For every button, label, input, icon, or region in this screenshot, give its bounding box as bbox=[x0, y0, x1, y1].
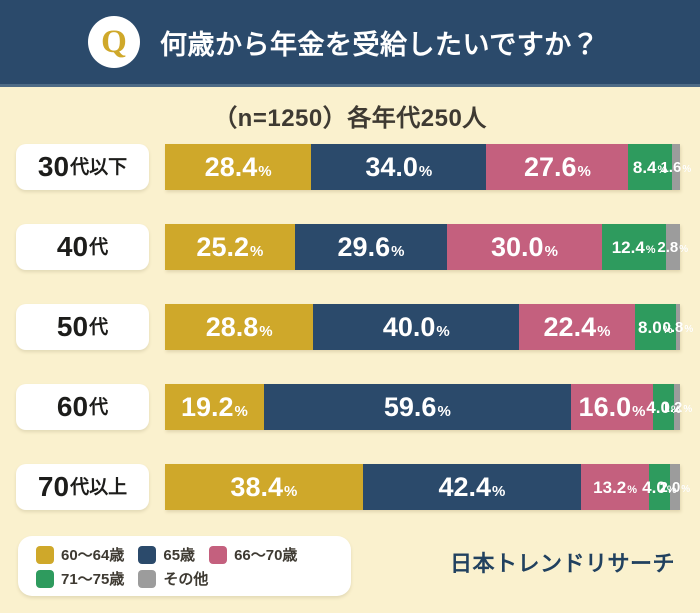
segment-value-number: 42.4 bbox=[438, 474, 491, 501]
bar-segment: 59.6% bbox=[264, 384, 571, 430]
segment-percent-sign: % bbox=[250, 244, 263, 259]
segment-percent-sign: % bbox=[578, 164, 591, 179]
segment-percent-sign: % bbox=[284, 484, 297, 499]
category-label-number: 40 bbox=[57, 233, 88, 261]
segment-value-label: 13.2% bbox=[593, 479, 637, 496]
segment-value-number: 28.8 bbox=[206, 314, 259, 341]
question-header: Q 何歳から年金を受給したいですか？ bbox=[0, 0, 700, 84]
segment-value-label: 12.4% bbox=[612, 239, 656, 256]
legend-item: 71～75歳 bbox=[36, 570, 124, 588]
category-label-suffix: 代以下 bbox=[70, 158, 127, 177]
segment-value-number: 38.4 bbox=[230, 474, 283, 501]
infographic-page: Q 何歳から年金を受給したいですか？ （n=1250）各年代250人 30代以下… bbox=[0, 0, 700, 613]
chart-row: 60代19.2%59.6%16.0%4.0%1.2% bbox=[0, 380, 700, 460]
segment-percent-sign: % bbox=[259, 324, 272, 339]
category-label-number: 50 bbox=[57, 313, 88, 341]
segment-percent-sign: % bbox=[682, 165, 691, 175]
bar-segment: 2.0% bbox=[670, 464, 680, 510]
chart-row: 40代25.2%29.6%30.0%12.4%2.8% bbox=[0, 220, 700, 300]
sample-size-note: （n=1250）各年代250人 bbox=[0, 98, 700, 133]
legend-swatch bbox=[36, 570, 54, 588]
segment-value-label: 16.0% bbox=[579, 394, 646, 421]
category-label-suffix: 代 bbox=[89, 398, 108, 417]
segment-percent-sign: % bbox=[419, 164, 432, 179]
legend-row: 60～64歳65歳66～70歳 bbox=[36, 544, 351, 566]
category-label: 50代 bbox=[16, 304, 149, 350]
legend-swatch bbox=[209, 546, 227, 564]
segment-value-label: 22.4% bbox=[544, 314, 611, 341]
bar-segment: 25.2% bbox=[165, 224, 295, 270]
segment-value-number: 1.6 bbox=[660, 160, 681, 175]
bar-segment: 0.8% bbox=[676, 304, 680, 350]
segment-value-label: 42.4% bbox=[438, 474, 505, 501]
segment-percent-sign: % bbox=[545, 244, 558, 259]
segment-value-number: 8.0 bbox=[638, 319, 662, 336]
segment-value-label: 30.0% bbox=[491, 234, 558, 261]
segment-percent-sign: % bbox=[235, 404, 248, 419]
segment-value-number: 59.6 bbox=[384, 394, 437, 421]
stacked-bar: 25.2%29.6%30.0%12.4%2.8% bbox=[165, 224, 680, 270]
stacked-bar: 19.2%59.6%16.0%4.0%1.2% bbox=[165, 384, 680, 430]
bar-segment: 28.4% bbox=[165, 144, 311, 190]
legend-item: 60～64歳 bbox=[36, 546, 124, 564]
segment-percent-sign: % bbox=[597, 324, 610, 339]
segment-value-number: 0.8 bbox=[663, 320, 684, 335]
question-title: 何歳から年金を受給したいですか？ bbox=[160, 23, 599, 62]
bar-segment: 19.2% bbox=[165, 384, 264, 430]
bar-segment: 28.8% bbox=[165, 304, 313, 350]
bar-segment: 1.2% bbox=[674, 384, 680, 430]
segment-value-number: 28.4 bbox=[205, 154, 258, 181]
chart-row: 70代以上38.4%42.4%13.2%4.0%2.0% bbox=[0, 460, 700, 540]
segment-percent-sign: % bbox=[436, 324, 449, 339]
bar-segment: 30.0% bbox=[447, 224, 602, 270]
segment-value-label: 28.8% bbox=[206, 314, 273, 341]
segment-percent-sign: % bbox=[681, 485, 690, 495]
stacked-bar: 28.4%34.0%27.6%8.4%1.6% bbox=[165, 144, 680, 190]
segment-value-label: 1.6% bbox=[660, 160, 691, 175]
category-label-number: 30 bbox=[38, 153, 69, 181]
category-label-suffix: 代 bbox=[89, 318, 108, 337]
legend-label: その他 bbox=[163, 572, 208, 587]
segment-value-label: 0.8% bbox=[663, 320, 694, 335]
bar-segment: 27.6% bbox=[486, 144, 628, 190]
segment-value-label: 25.2% bbox=[196, 234, 263, 261]
category-label-number: 70 bbox=[38, 473, 69, 501]
segment-percent-sign: % bbox=[258, 164, 271, 179]
question-badge-letter: Q bbox=[101, 26, 127, 59]
segment-value-number: 8.4 bbox=[633, 159, 657, 176]
segment-percent-sign: % bbox=[684, 325, 693, 335]
legend-label: 60～64歳 bbox=[61, 548, 124, 563]
segment-value-number: 1.2 bbox=[662, 400, 683, 415]
segment-value-label: 1.2% bbox=[662, 400, 693, 415]
legend-label: 65歳 bbox=[163, 548, 195, 563]
chart-row: 50代28.8%40.0%22.4%8.0%0.8% bbox=[0, 300, 700, 380]
segment-value-number: 29.6 bbox=[338, 234, 391, 261]
segment-percent-sign: % bbox=[646, 245, 656, 256]
segment-value-label: 29.6% bbox=[338, 234, 405, 261]
bar-segment: 34.0% bbox=[311, 144, 486, 190]
bar-segment: 40.0% bbox=[313, 304, 519, 350]
legend-label: 71～75歳 bbox=[61, 572, 124, 587]
category-label-number: 60 bbox=[57, 393, 88, 421]
legend-swatch bbox=[138, 546, 156, 564]
legend-item: 65歳 bbox=[138, 546, 195, 564]
segment-value-number: 34.0 bbox=[365, 154, 418, 181]
legend-row: 71～75歳その他 bbox=[36, 568, 351, 590]
segment-value-number: 25.2 bbox=[196, 234, 249, 261]
segment-percent-sign: % bbox=[492, 484, 505, 499]
stacked-bar: 38.4%42.4%13.2%4.0%2.0% bbox=[165, 464, 680, 510]
question-badge: Q bbox=[88, 16, 140, 68]
category-label: 30代以下 bbox=[16, 144, 149, 190]
stacked-bar-chart: 30代以下28.4%34.0%27.6%8.4%1.6%40代25.2%29.6… bbox=[0, 140, 700, 540]
segment-value-number: 19.2 bbox=[181, 394, 234, 421]
brand-logo: 日本トレンドリサーチ bbox=[440, 546, 685, 578]
segment-percent-sign: % bbox=[391, 244, 404, 259]
segment-value-number: 22.4 bbox=[544, 314, 597, 341]
segment-value-number: 27.6 bbox=[524, 154, 577, 181]
chart-legend: 60～64歳65歳66～70歳71～75歳その他 bbox=[18, 536, 351, 596]
segment-value-number: 2.0 bbox=[659, 480, 680, 495]
bar-segment: 13.2% bbox=[581, 464, 649, 510]
bar-segment: 16.0% bbox=[571, 384, 653, 430]
segment-value-number: 13.2 bbox=[593, 479, 626, 496]
segment-value-number: 16.0 bbox=[579, 394, 632, 421]
segment-percent-sign: % bbox=[632, 404, 645, 419]
legend-swatch bbox=[36, 546, 54, 564]
bar-segment: 12.4% bbox=[602, 224, 666, 270]
legend-swatch bbox=[138, 570, 156, 588]
segment-value-label: 19.2% bbox=[181, 394, 248, 421]
bar-segment: 1.6% bbox=[672, 144, 680, 190]
category-label: 70代以上 bbox=[16, 464, 149, 510]
segment-percent-sign: % bbox=[437, 404, 450, 419]
header-divider bbox=[0, 84, 700, 87]
segment-percent-sign: % bbox=[683, 405, 692, 415]
segment-value-label: 28.4% bbox=[205, 154, 272, 181]
segment-value-number: 30.0 bbox=[491, 234, 544, 261]
segment-value-label: 59.6% bbox=[384, 394, 451, 421]
category-label-suffix: 代 bbox=[89, 238, 108, 257]
bar-segment: 38.4% bbox=[165, 464, 363, 510]
legend-item: その他 bbox=[138, 570, 208, 588]
bar-segment: 42.4% bbox=[363, 464, 581, 510]
segment-value-label: 40.0% bbox=[383, 314, 450, 341]
segment-value-label: 38.4% bbox=[230, 474, 297, 501]
segment-percent-sign: % bbox=[627, 485, 637, 496]
bar-segment: 2.8% bbox=[666, 224, 680, 270]
segment-value-number: 40.0 bbox=[383, 314, 436, 341]
legend-item: 66～70歳 bbox=[209, 546, 297, 564]
segment-value-label: 2.8% bbox=[657, 240, 688, 255]
bar-segment: 22.4% bbox=[519, 304, 634, 350]
segment-value-label: 2.0% bbox=[659, 480, 690, 495]
segment-percent-sign: % bbox=[679, 245, 688, 255]
segment-value-number: 2.8 bbox=[657, 240, 678, 255]
category-label: 60代 bbox=[16, 384, 149, 430]
segment-value-label: 34.0% bbox=[365, 154, 432, 181]
chart-row: 30代以下28.4%34.0%27.6%8.4%1.6% bbox=[0, 140, 700, 220]
legend-label: 66～70歳 bbox=[234, 548, 297, 563]
segment-value-number: 12.4 bbox=[612, 239, 645, 256]
bar-segment: 29.6% bbox=[295, 224, 447, 270]
category-label: 40代 bbox=[16, 224, 149, 270]
stacked-bar: 28.8%40.0%22.4%8.0%0.8% bbox=[165, 304, 680, 350]
segment-value-label: 27.6% bbox=[524, 154, 591, 181]
category-label-suffix: 代以上 bbox=[70, 478, 127, 497]
